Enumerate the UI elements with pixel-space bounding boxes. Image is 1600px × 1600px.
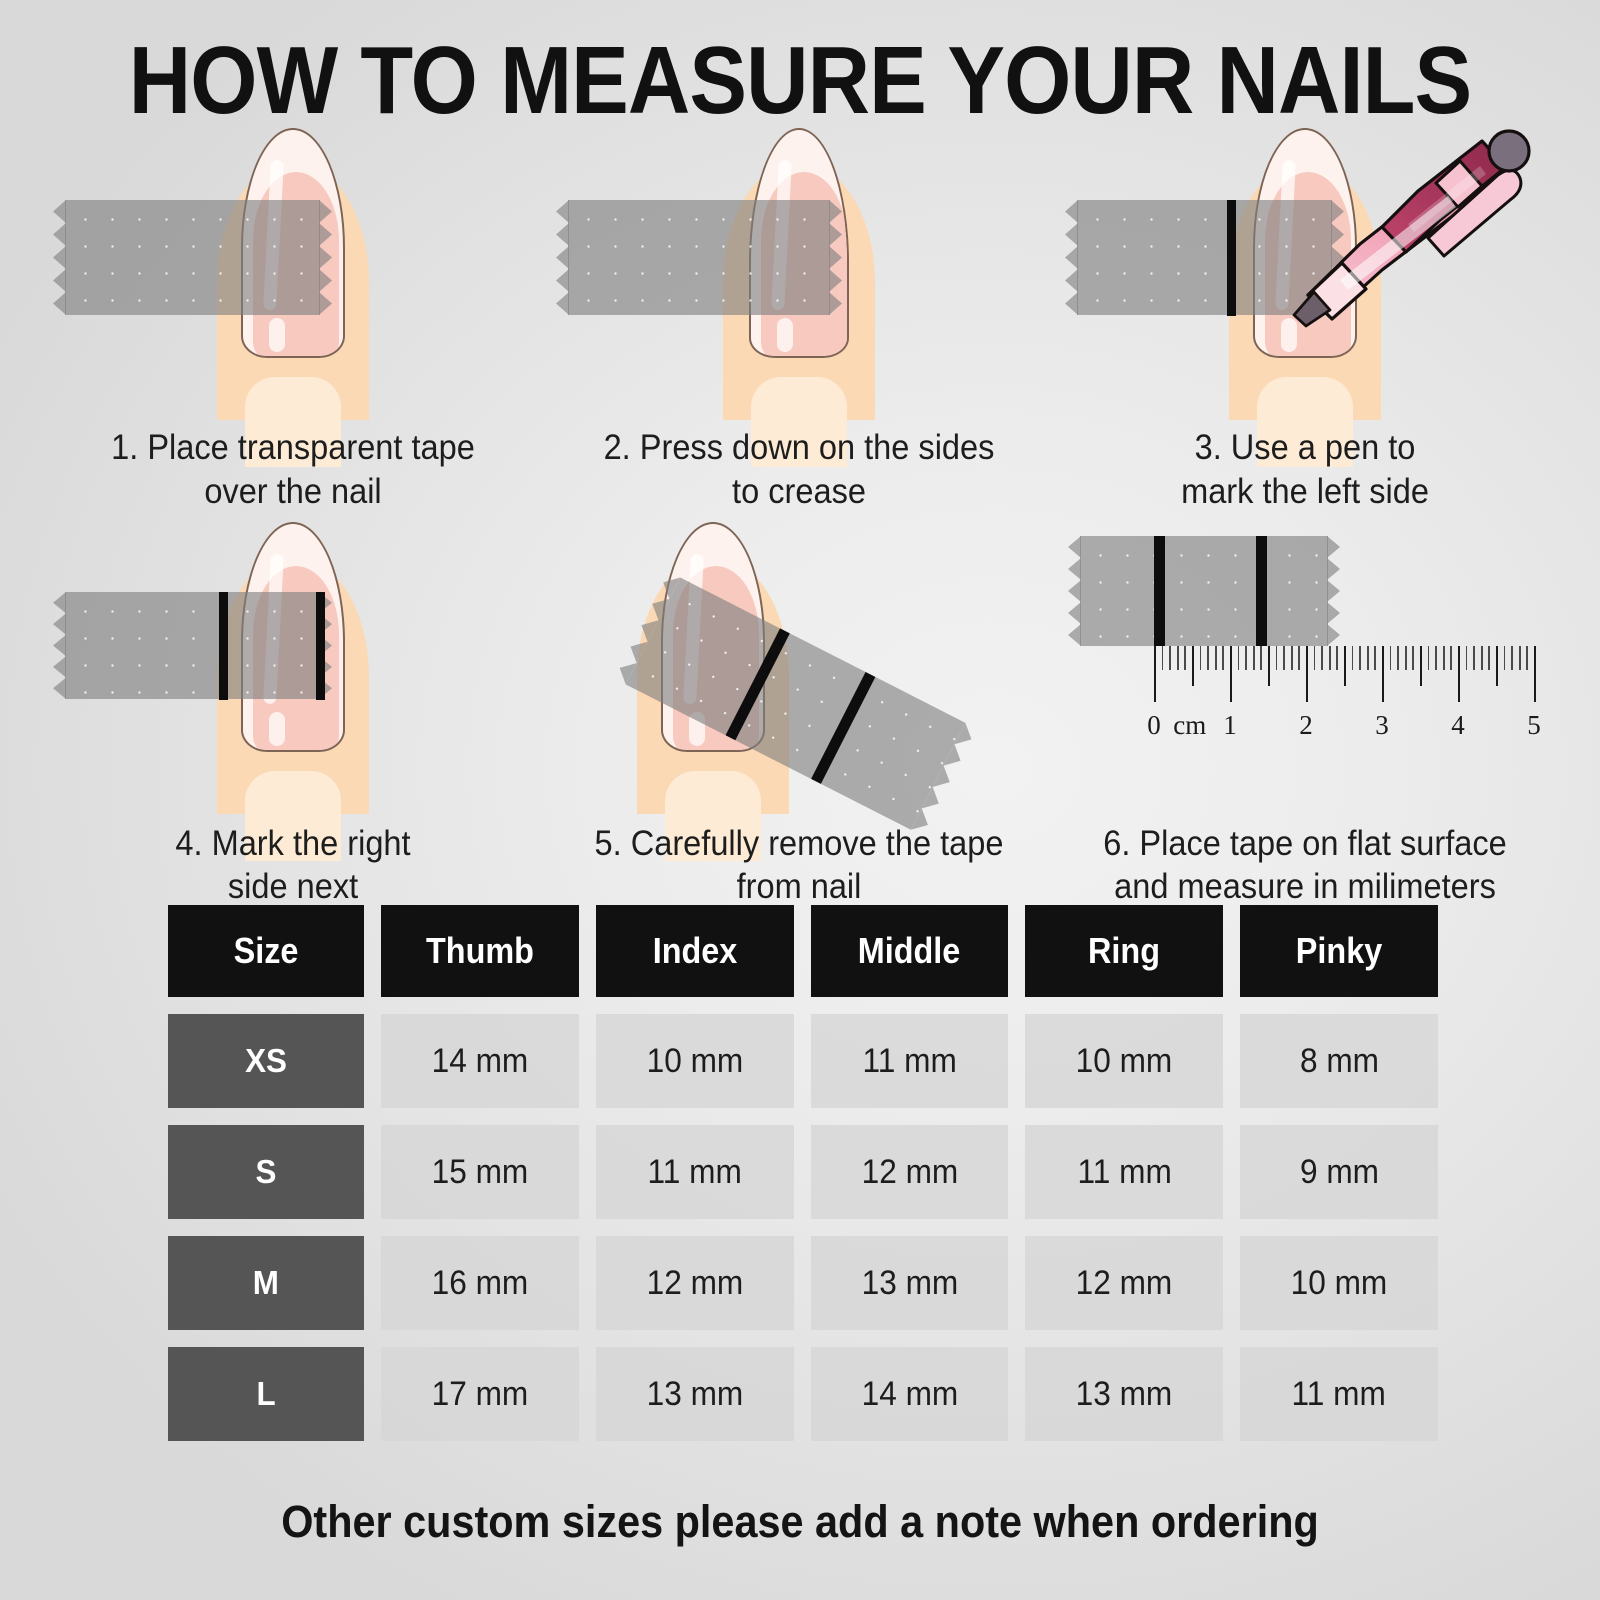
ruler-labels: 012345cm [1154, 708, 1534, 756]
ruler-tick [1450, 646, 1452, 670]
pen-icon [1232, 120, 1552, 330]
finger-illustration [217, 120, 369, 420]
table-cell-measurement: 10 mm [596, 1014, 794, 1108]
table-header-pinky: Pinky [1240, 905, 1438, 997]
ruler-tick [1526, 646, 1528, 670]
pen-mark-left [219, 592, 228, 700]
ruler-tick [1519, 646, 1521, 670]
step-2: 2. Press down on the sides to crease [546, 120, 1052, 514]
footer-note: Other custom sizes please add a note whe… [64, 1496, 1536, 1548]
nail-plate [241, 522, 345, 752]
ruler-tick [1504, 646, 1506, 670]
tape-texture [1080, 536, 1328, 646]
ruler-tick [1222, 646, 1224, 670]
measurement-value: 15 mm [432, 1153, 529, 1192]
step-4: 4. Mark the right side next [40, 514, 546, 910]
ruler-tick [1359, 646, 1361, 670]
step-6-illustration: 012345cm [1052, 514, 1558, 814]
finger-illustration [723, 120, 875, 420]
tape-edge-left-icon [1068, 536, 1081, 646]
step-1-caption: 1. Place transparent tape over the nail [58, 420, 529, 514]
ruler-tick [1405, 646, 1407, 670]
steps-row-2: 4. Mark the right side next [40, 514, 1560, 910]
table-cell-measurement: 11 mm [596, 1125, 794, 1219]
tape-edge-right-icon [1327, 536, 1340, 646]
ruler-tick [1298, 646, 1300, 670]
table-header-label: Pinky [1296, 930, 1382, 972]
measurement-value: 12 mm [1076, 1264, 1173, 1303]
ruler-tick [1443, 646, 1445, 670]
ruler-tick [1184, 646, 1186, 670]
table-header-middle: Middle [811, 905, 1009, 997]
table-cell-size: M [168, 1236, 364, 1330]
table-header-thumb: Thumb [381, 905, 579, 997]
finger-illustration [217, 514, 369, 814]
measurement-value: 11 mm [862, 1042, 956, 1081]
pen-mark-left [726, 628, 790, 740]
size-label: M [253, 1264, 279, 1302]
ruler-tick [1291, 646, 1293, 670]
ruler-tick [1458, 646, 1460, 702]
ruler-tick [1473, 646, 1475, 670]
pen-mark-right [316, 592, 325, 700]
table-cell-measurement: 12 mm [811, 1125, 1009, 1219]
ruler-tick [1283, 646, 1285, 670]
ruler-tick [1177, 646, 1179, 670]
table-row: L17 mm13 mm14 mm13 mm11 mm [168, 1347, 1438, 1441]
table-header-label: Ring [1088, 930, 1160, 972]
ruler-ticks [1154, 646, 1534, 708]
table-cell-measurement: 11 mm [811, 1014, 1009, 1108]
ruler-tick [1382, 646, 1384, 702]
ruler-tick [1238, 646, 1240, 670]
step-2-illustration [546, 120, 1052, 420]
table-header-label: Index [652, 930, 737, 972]
ruler-tick [1245, 646, 1247, 670]
ruler-tick [1435, 646, 1437, 670]
table-header-index: Index [596, 905, 794, 997]
ruler-tick [1488, 646, 1490, 670]
table-cell-size: XS [168, 1014, 364, 1108]
ruler-label: 2 [1299, 710, 1313, 741]
ruler-label: 4 [1451, 710, 1465, 741]
ruler-tick [1496, 646, 1498, 686]
table-header-ring: Ring [1025, 905, 1223, 997]
table-cell-measurement: 8 mm [1240, 1014, 1438, 1108]
step-5: 5. Carefully remove the tape from nail [546, 514, 1052, 910]
table-body: XS14 mm10 mm11 mm10 mm8 mmS15 mm11 mm12 … [168, 1014, 1438, 1441]
step-5-caption: 5. Carefully remove the tape from nail [564, 814, 1035, 910]
tape-edge-left-icon [556, 200, 569, 315]
ruler-tick [1367, 646, 1369, 670]
pen-mark-right [1256, 536, 1267, 646]
measurement-value: 17 mm [432, 1375, 529, 1414]
table-cell-measurement: 16 mm [381, 1236, 579, 1330]
ruler-tick [1207, 646, 1209, 670]
table-cell-measurement: 14 mm [381, 1014, 579, 1108]
size-chart-table: SizeThumbIndexMiddleRingPinky XS14 mm10 … [168, 905, 1438, 1458]
ruler-tick [1253, 646, 1255, 670]
measurement-value: 10 mm [646, 1042, 743, 1081]
tape-edge-left-icon [1065, 200, 1078, 315]
ruler-tick [1192, 646, 1194, 686]
size-label: S [256, 1153, 277, 1191]
step-1: 1. Place transparent tape over the nail [40, 120, 546, 514]
ruler-tick [1374, 646, 1376, 670]
measurement-value: 13 mm [1076, 1375, 1173, 1414]
table-cell-measurement: 13 mm [596, 1347, 794, 1441]
table-cell-measurement: 10 mm [1240, 1236, 1438, 1330]
measurement-value: 13 mm [861, 1264, 958, 1303]
ruler-unit-label: cm [1173, 710, 1206, 741]
step-1-illustration [40, 120, 546, 420]
ruler-tick [1162, 646, 1164, 670]
ruler-tick [1200, 646, 1202, 670]
steps-grid: 1. Place transparent tape over the nail [40, 120, 1560, 909]
measurement-value: 10 mm [1291, 1264, 1388, 1303]
tape-edge-left-icon [53, 592, 66, 699]
nail-plate [749, 128, 849, 358]
measurement-value: 10 mm [1076, 1042, 1173, 1081]
table-row: S15 mm11 mm12 mm11 mm9 mm [168, 1125, 1438, 1219]
ruler-tick [1344, 646, 1346, 686]
ruler-tick [1534, 646, 1536, 702]
ruler-label: 0 [1147, 710, 1161, 741]
table-cell-measurement: 9 mm [1240, 1125, 1438, 1219]
ruler-tick [1215, 646, 1217, 670]
ruler-tick [1397, 646, 1399, 670]
step-6: 012345cm 6. Place tape on flat surface a… [1052, 514, 1558, 910]
ruler-tick [1321, 646, 1323, 670]
measurement-value: 13 mm [646, 1375, 743, 1414]
step-4-caption: 4. Mark the right side next [58, 814, 529, 910]
measurement-value: 11 mm [648, 1153, 742, 1192]
table-header-label: Thumb [426, 930, 534, 972]
table-cell-measurement: 11 mm [1240, 1347, 1438, 1441]
table-row: XS14 mm10 mm11 mm10 mm8 mm [168, 1014, 1438, 1108]
table-cell-measurement: 17 mm [381, 1347, 579, 1441]
table-header-row: SizeThumbIndexMiddleRingPinky [168, 905, 1438, 997]
ruler-tick [1420, 646, 1422, 686]
measurement-value: 12 mm [646, 1264, 743, 1303]
ruler-tick [1481, 646, 1483, 670]
table-cell-size: L [168, 1347, 364, 1441]
nail-gloss-small-icon [269, 318, 285, 352]
table-header-label: Middle [858, 930, 961, 972]
step-3-illustration [1052, 120, 1558, 420]
ruler-tick [1336, 646, 1338, 670]
measurement-value: 11 mm [1292, 1375, 1386, 1414]
ruler-tick [1466, 646, 1468, 670]
step-3-caption: 3. Use a pen to mark the left side [1070, 420, 1541, 514]
ruler-tick [1329, 646, 1331, 670]
nail-gloss-small-icon [777, 318, 793, 352]
ruler-tick [1390, 646, 1392, 670]
step-3: 3. Use a pen to mark the left side [1052, 120, 1558, 514]
ruler-label: 3 [1375, 710, 1389, 741]
ruler-tick [1230, 646, 1232, 702]
ruler-tick [1169, 646, 1171, 670]
ruler-tick [1154, 646, 1156, 702]
size-label: L [256, 1375, 275, 1413]
ruler-tick [1306, 646, 1308, 702]
step-5-illustration [546, 514, 1052, 814]
ruler: 012345cm [1154, 646, 1534, 756]
table-cell-measurement: 13 mm [811, 1236, 1009, 1330]
pen-mark-right [811, 671, 875, 783]
nail-gloss-small-icon [269, 712, 285, 746]
tape-strip-flat [1080, 536, 1328, 646]
ruler-tick [1276, 646, 1278, 670]
table-header-size: Size [168, 905, 364, 997]
measurement-value: 11 mm [1077, 1153, 1171, 1192]
ruler-label: 5 [1527, 710, 1541, 741]
table-cell-measurement: 12 mm [596, 1236, 794, 1330]
ruler-tick [1412, 646, 1414, 670]
table-row: M16 mm12 mm13 mm12 mm10 mm [168, 1236, 1438, 1330]
ruler-tick [1511, 646, 1513, 670]
table-cell-measurement: 14 mm [811, 1347, 1009, 1441]
pen-mark-left [1154, 536, 1165, 646]
steps-row-1: 1. Place transparent tape over the nail [40, 120, 1560, 514]
table-cell-measurement: 11 mm [1025, 1125, 1223, 1219]
ruler-tick [1428, 646, 1430, 670]
step-2-caption: 2. Press down on the sides to crease [564, 420, 1035, 514]
ruler-tick [1268, 646, 1270, 686]
ruler-tick [1260, 646, 1262, 670]
measurement-value: 8 mm [1300, 1042, 1379, 1081]
table-cell-measurement: 13 mm [1025, 1347, 1223, 1441]
ruler-tick [1352, 646, 1354, 670]
ruler-tick [1314, 646, 1316, 670]
measurement-value: 14 mm [432, 1042, 529, 1081]
table-cell-measurement: 12 mm [1025, 1236, 1223, 1330]
measurement-value: 12 mm [861, 1153, 958, 1192]
table-header-label: Size [234, 930, 299, 972]
measurement-value: 16 mm [432, 1264, 529, 1303]
step-4-illustration [40, 514, 546, 814]
table-cell-measurement: 15 mm [381, 1125, 579, 1219]
step-6-caption: 6. Place tape on flat surface and measur… [1070, 814, 1541, 910]
ruler-label: 1 [1223, 710, 1237, 741]
nail-plate [241, 128, 345, 358]
measurement-value: 14 mm [861, 1375, 958, 1414]
table-cell-size: S [168, 1125, 364, 1219]
measurement-value: 9 mm [1300, 1153, 1379, 1192]
table-cell-measurement: 10 mm [1025, 1014, 1223, 1108]
size-label: XS [245, 1042, 287, 1080]
tape-edge-left-icon [53, 200, 66, 315]
